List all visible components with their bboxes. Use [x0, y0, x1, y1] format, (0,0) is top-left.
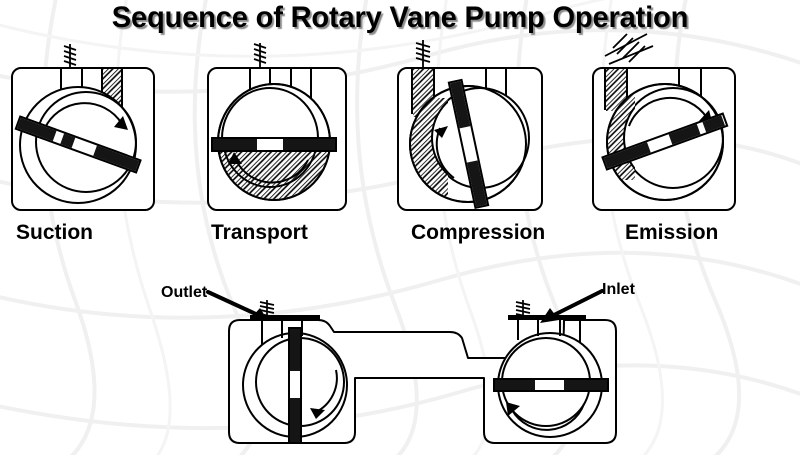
spring-icon	[416, 40, 430, 68]
assembly-diagram	[150, 300, 650, 455]
stage-caption-emission: Emission	[625, 221, 718, 245]
stage-caption-compression: Compression	[411, 221, 545, 245]
slide-canvas: Sequence of Rotary Vane Pump Operation	[0, 0, 800, 455]
stage-caption-transport: Transport	[211, 221, 308, 245]
spring-icon	[64, 44, 76, 68]
callout-label-outlet: Outlet	[161, 284, 207, 302]
callout-label-inlet: Inlet	[602, 281, 635, 299]
stage-diagram-emission	[583, 30, 758, 218]
stage-caption-suction: Suction	[16, 221, 93, 245]
spring-icon	[254, 43, 266, 68]
stage-diagram-suction	[6, 42, 166, 217]
spring-icon	[605, 34, 653, 64]
stage-diagram-compression	[390, 38, 560, 218]
vane	[212, 138, 336, 151]
stage-diagram-transport	[198, 42, 358, 217]
vane	[494, 379, 608, 391]
vane	[289, 328, 301, 443]
